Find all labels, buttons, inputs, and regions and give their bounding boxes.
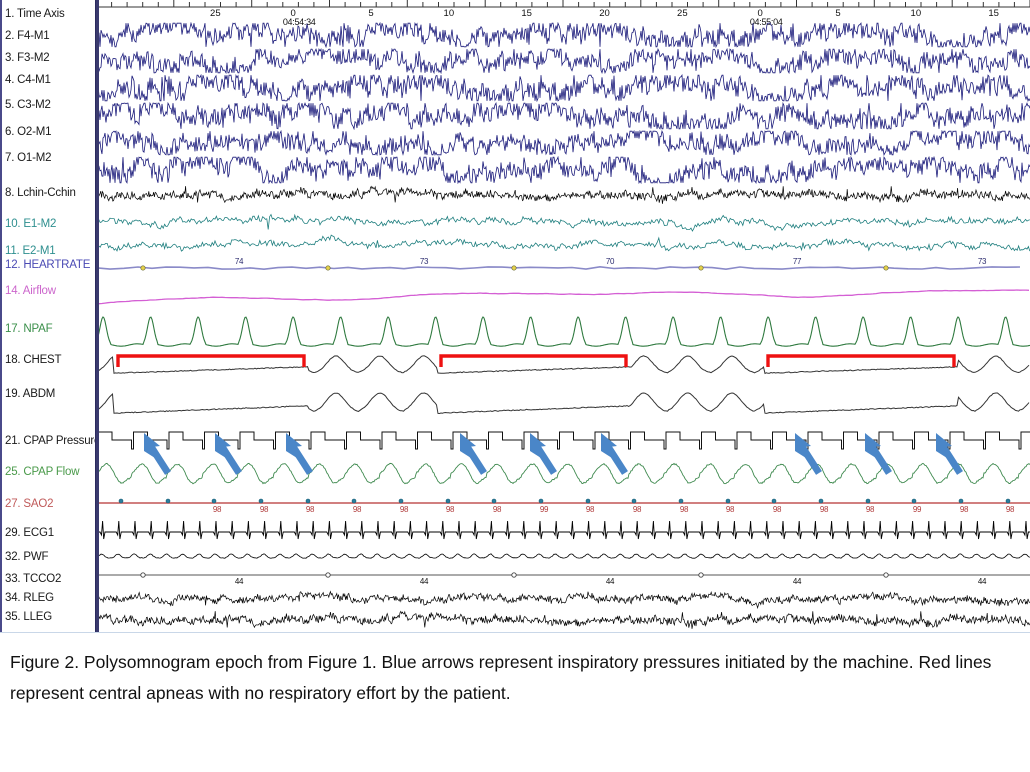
time-tick-label: 25 bbox=[210, 8, 221, 19]
central-apnea-markers bbox=[118, 356, 954, 367]
channel-label-time-axis[interactable]: 1. Time Axis bbox=[5, 8, 65, 20]
sao2-value: 98 bbox=[633, 505, 641, 514]
tcco2-value: 44 bbox=[235, 577, 243, 586]
psg-viewer: 1. Time Axis 2. F4-M1 3. F3-M2 4. C4-M1 … bbox=[0, 0, 1030, 632]
time-tick-label: 10 bbox=[444, 8, 455, 19]
trace-row-ecg1[interactable] bbox=[96, 517, 1030, 547]
trace-row-lchin-cchin[interactable] bbox=[96, 184, 1030, 206]
sao2-marker bbox=[166, 499, 170, 503]
sao2-value: 98 bbox=[820, 505, 828, 514]
figure-caption: Figure 2. Polysomnogram epoch from Figur… bbox=[10, 647, 1016, 709]
heartrate-value: 74 bbox=[235, 257, 243, 266]
sao2-marker bbox=[959, 499, 963, 503]
tcco2-marker bbox=[326, 573, 330, 577]
trace-row-cpap-pressure[interactable] bbox=[96, 425, 1030, 455]
sao2-value: 98 bbox=[586, 505, 594, 514]
trace-f4-m1 bbox=[96, 22, 1030, 48]
sao2-value: 98 bbox=[866, 505, 874, 514]
sao2-value: 98 bbox=[353, 505, 361, 514]
trace-row-c4-m1[interactable] bbox=[96, 74, 1030, 102]
trace-airflow bbox=[96, 277, 1030, 311]
trace-row-f3-m2[interactable] bbox=[96, 48, 1030, 74]
time-tick-label: 20 bbox=[599, 8, 610, 19]
sao2-value: 98 bbox=[726, 505, 734, 514]
channel-label-ecg1[interactable]: 29. ECG1 bbox=[5, 527, 54, 539]
sao2-marker bbox=[819, 499, 823, 503]
sao2-marker bbox=[212, 499, 216, 503]
channel-label-c3-m2[interactable]: 5. C3-M2 bbox=[5, 99, 51, 111]
trace-f3-m2 bbox=[96, 48, 1030, 74]
sao2-marker bbox=[119, 499, 123, 503]
channel-label-npaf[interactable]: 17. NPAF bbox=[5, 323, 52, 335]
tcco2-marker bbox=[884, 573, 888, 577]
trace-o1-m2 bbox=[96, 156, 1030, 184]
sao2-marker bbox=[866, 499, 870, 503]
channel-label-f3-m2[interactable]: 3. F3-M2 bbox=[5, 52, 49, 64]
sao2-marker bbox=[306, 499, 310, 503]
sao2-marker bbox=[446, 499, 450, 503]
heartrate-marker bbox=[699, 266, 703, 270]
central-apnea-bracket bbox=[768, 356, 954, 367]
channel-label-pwf[interactable]: 32. PWF bbox=[5, 551, 48, 563]
trace-e1-m2 bbox=[96, 209, 1030, 233]
sao2-value: 98 bbox=[213, 505, 221, 514]
tcco2-value: 44 bbox=[420, 577, 428, 586]
trace-row-abdm[interactable] bbox=[96, 385, 1030, 425]
time-tick-label: 15 bbox=[988, 8, 999, 19]
trace-row-f4-m1[interactable] bbox=[96, 22, 1030, 48]
trace-row-pwf[interactable] bbox=[96, 547, 1030, 569]
tcco2-value: 44 bbox=[793, 577, 801, 586]
trace-npaf bbox=[96, 311, 1030, 349]
trace-row-cpap-flow[interactable] bbox=[96, 455, 1030, 495]
channel-label-lchin-cchin[interactable]: 8. Lchin-Cchin bbox=[5, 187, 76, 199]
time-axis-svg bbox=[96, 0, 1030, 22]
trace-cpap-pressure bbox=[96, 425, 1030, 455]
trace-chest bbox=[96, 349, 1030, 385]
time-tick-label: 15 bbox=[521, 8, 532, 19]
sao2-value: 98 bbox=[1006, 505, 1014, 514]
trace-row-lleg[interactable] bbox=[96, 609, 1030, 631]
channel-label-lleg[interactable]: 35. LLEG bbox=[5, 611, 52, 623]
central-apnea-bracket bbox=[118, 356, 304, 367]
sao2-value: 98 bbox=[260, 505, 268, 514]
heartrate-value: 70 bbox=[606, 257, 614, 266]
channel-label-tcco2[interactable]: 33. TCCO2 bbox=[5, 573, 61, 585]
tcco2-marker bbox=[512, 573, 516, 577]
sao2-marker bbox=[259, 499, 263, 503]
channel-label-cpap-pressure[interactable]: 21. CPAP Pressure bbox=[5, 435, 96, 447]
sao2-value: 98 bbox=[773, 505, 781, 514]
channel-label-e2-m1[interactable]: 11. E2-M1 bbox=[5, 245, 55, 257]
trace-cpap-flow bbox=[96, 455, 1030, 495]
channel-label-c4-m1[interactable]: 4. C4-M1 bbox=[5, 74, 51, 86]
tcco2-marker bbox=[141, 573, 145, 577]
tcco2-marker bbox=[699, 573, 703, 577]
channel-label-heartrate[interactable]: 12. HEARTRATE bbox=[5, 259, 90, 271]
trace-row-e1-m2[interactable] bbox=[96, 209, 1030, 233]
sao2-marker bbox=[539, 499, 543, 503]
figure-page: 1. Time Axis 2. F4-M1 3. F3-M2 4. C4-M1 … bbox=[0, 0, 1030, 772]
trace-c4-m1 bbox=[96, 74, 1030, 102]
sao2-marker bbox=[1006, 499, 1010, 503]
figure-caption-area: Figure 2. Polysomnogram epoch from Figur… bbox=[0, 632, 1030, 772]
heartrate-marker bbox=[884, 266, 888, 270]
trace-row-npaf[interactable] bbox=[96, 311, 1030, 349]
trace-row-o1-m2[interactable] bbox=[96, 156, 1030, 184]
trace-lleg bbox=[96, 609, 1030, 631]
heartrate-marker bbox=[512, 266, 516, 270]
sao2-marker bbox=[352, 499, 356, 503]
trace-rleg bbox=[96, 589, 1030, 609]
trace-e2-m1 bbox=[96, 233, 1030, 257]
trace-row-airflow[interactable] bbox=[96, 277, 1030, 311]
sao2-value: 98 bbox=[306, 505, 314, 514]
time-tick-label: 25 bbox=[677, 8, 688, 19]
sao2-value: 98 bbox=[493, 505, 501, 514]
channel-label-f4-m1[interactable]: 2. F4-M1 bbox=[5, 30, 49, 42]
sao2-marker bbox=[399, 499, 403, 503]
heartrate-marker bbox=[326, 266, 330, 270]
channel-label-rleg[interactable]: 34. RLEG bbox=[5, 592, 54, 604]
heartrate-value: 73 bbox=[978, 257, 986, 266]
sao2-value: 99 bbox=[540, 505, 548, 514]
trace-c3-m2 bbox=[96, 102, 1030, 130]
tcco2-value: 44 bbox=[978, 577, 986, 586]
trace-row-e2-m1[interactable] bbox=[96, 233, 1030, 257]
heartrate-marker bbox=[141, 266, 145, 270]
sao2-value: 98 bbox=[680, 505, 688, 514]
channel-label-o1-m2[interactable]: 7. O1-M2 bbox=[5, 152, 51, 164]
heartrate-value: 73 bbox=[420, 257, 428, 266]
tcco2-value: 44 bbox=[606, 577, 614, 586]
channel-label-e1-m2[interactable]: 10. E1-M2 bbox=[5, 218, 56, 230]
sao2-value: 98 bbox=[960, 505, 968, 514]
channel-label-panel: 1. Time Axis 2. F4-M1 3. F3-M2 4. C4-M1 … bbox=[0, 0, 96, 632]
channel-label-airflow[interactable]: 14. Airflow bbox=[5, 285, 56, 297]
sao2-marker bbox=[586, 499, 590, 503]
sao2-marker bbox=[726, 499, 730, 503]
time-tick-label: 5 bbox=[835, 8, 840, 19]
time-tick-label: 5 bbox=[368, 8, 373, 19]
trace-row-sao2[interactable] bbox=[96, 495, 1030, 517]
trace-lchin-cchin bbox=[96, 184, 1030, 206]
trace-sao2 bbox=[96, 495, 1030, 517]
trace-ecg1 bbox=[96, 517, 1030, 547]
trace-abdm bbox=[96, 385, 1030, 425]
time-axis-row[interactable] bbox=[96, 0, 1030, 22]
channel-label-o2-m1[interactable]: 6. O2-M1 bbox=[5, 126, 51, 138]
trace-row-chest[interactable] bbox=[96, 349, 1030, 385]
trace-row-rleg[interactable] bbox=[96, 589, 1030, 609]
trace-panel[interactable]: 25004:54:34510152025004:55:045101520 bbox=[96, 0, 1030, 632]
sao2-marker bbox=[632, 499, 636, 503]
sao2-value: 98 bbox=[400, 505, 408, 514]
trace-row-c3-m2[interactable] bbox=[96, 102, 1030, 130]
time-tick-label: 10 bbox=[911, 8, 922, 19]
sao2-marker bbox=[772, 499, 776, 503]
sao2-value: 99 bbox=[913, 505, 921, 514]
trace-o2-m1 bbox=[96, 130, 1030, 156]
heartrate-value: 77 bbox=[793, 257, 801, 266]
trace-row-o2-m1[interactable] bbox=[96, 130, 1030, 156]
trace-pwf bbox=[96, 547, 1030, 569]
central-apnea-bracket bbox=[441, 356, 626, 367]
channel-label-abdm[interactable]: 19. ABDM bbox=[5, 388, 55, 400]
sao2-marker bbox=[912, 499, 916, 503]
sao2-marker bbox=[679, 499, 683, 503]
sao2-marker bbox=[492, 499, 496, 503]
sao2-value: 98 bbox=[446, 505, 454, 514]
channel-label-sao2[interactable]: 27. SAO2 bbox=[5, 498, 53, 510]
channel-label-chest[interactable]: 18. CHEST bbox=[5, 354, 61, 366]
channel-label-cpap-flow[interactable]: 25. CPAP Flow bbox=[5, 466, 79, 478]
